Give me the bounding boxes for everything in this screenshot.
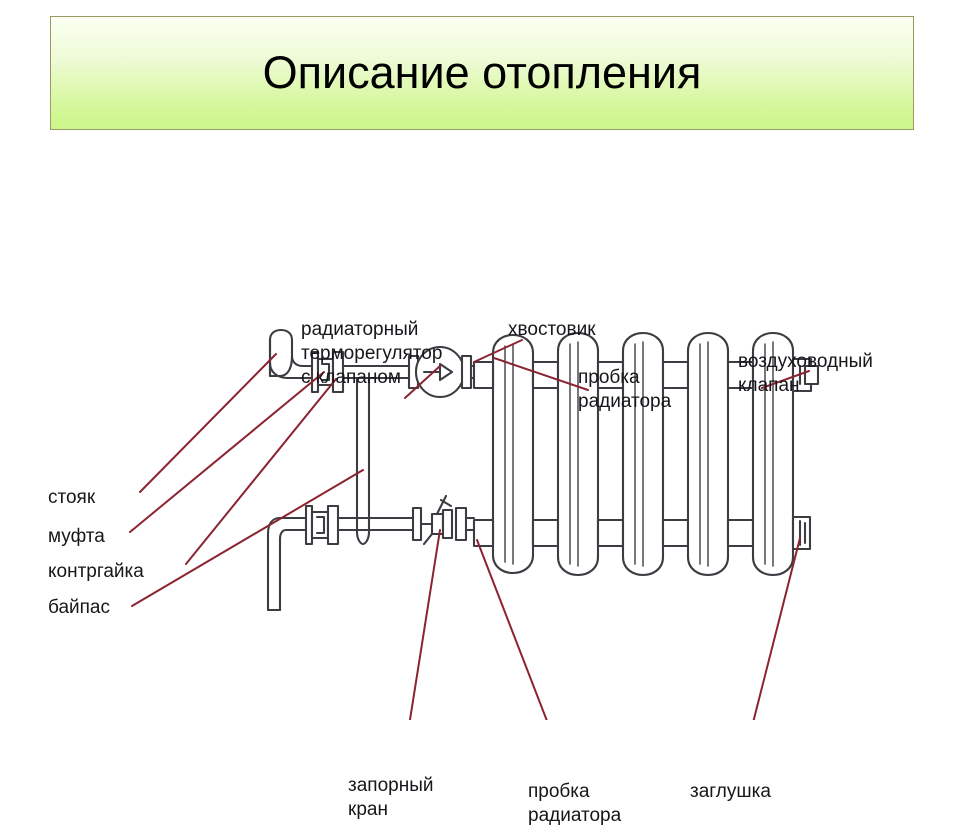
radiator-left-top-port <box>474 362 493 388</box>
label-baypas: байпас <box>48 596 110 620</box>
label-radiator-thermostat: радиаторный терморегулятор с клапаном <box>301 318 442 390</box>
title-banner: Описание отопления <box>50 16 914 130</box>
radiator-bottom-plug <box>456 508 474 540</box>
label-radiator-plug-top: пробка радиатора <box>578 366 671 414</box>
label-radiator-plug-bottom: пробка радиатора <box>528 780 621 828</box>
label-shutoff-valve: запорный кран <box>348 774 433 822</box>
label-end-plug: заглушка <box>690 780 771 804</box>
heating-diagram: .ln { fill:none; stroke:#3c3c42; stroke-… <box>0 140 960 720</box>
bottom-return-pipe <box>268 496 474 610</box>
label-kontrgayka: контргайка <box>48 560 144 584</box>
valve-outlet-flange <box>462 356 471 388</box>
label-mufta: муфта <box>48 525 105 549</box>
radiator-section <box>688 333 728 575</box>
coupling-bottom <box>306 506 338 544</box>
label-air-vent-valve: воздуховодный клапан <box>738 350 873 398</box>
radiator-nipple <box>533 362 558 546</box>
bypass-pipe <box>357 392 369 544</box>
diagram-canvas: .ln { fill:none; stroke:#3c3c42; stroke-… <box>0 140 960 720</box>
label-tailpiece: хвостовик <box>508 318 596 342</box>
shutoff-valve <box>413 496 452 544</box>
end-plug <box>793 517 810 549</box>
label-stoyak: стояк <box>48 486 95 510</box>
page-title: Описание отопления <box>263 49 702 96</box>
radiator-section <box>493 335 533 573</box>
